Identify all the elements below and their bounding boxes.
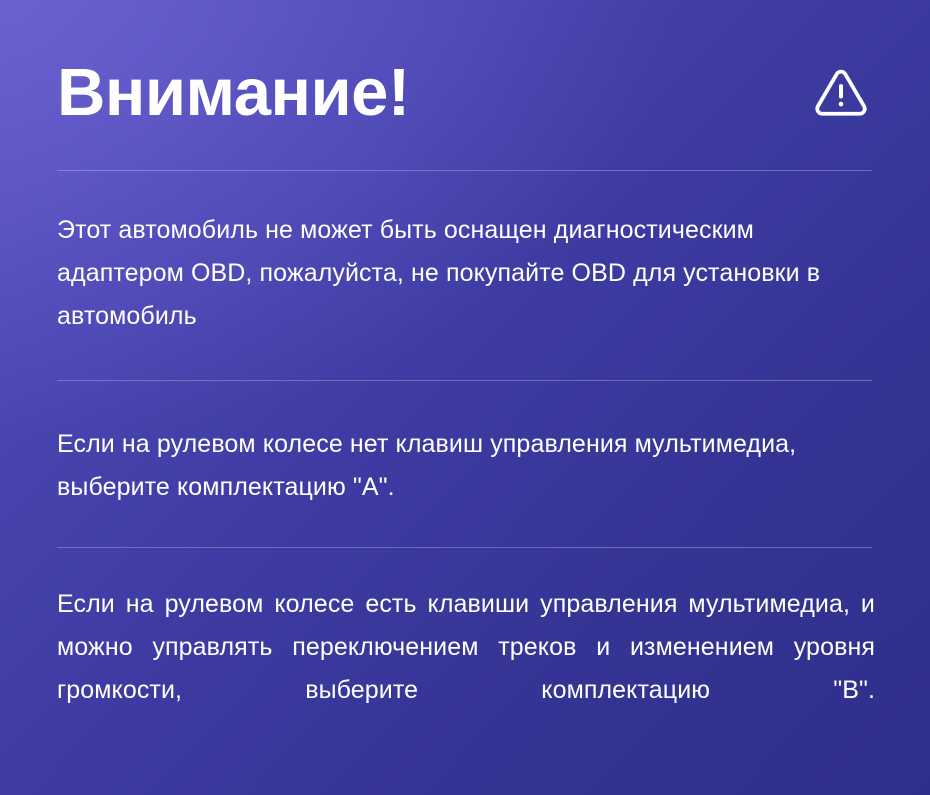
divider-2 (57, 380, 872, 381)
page-title: Внимание! (57, 59, 410, 126)
warning-paragraph-variant-b: Если на рулевом колесе есть клавиши упра… (57, 583, 875, 755)
warning-paragraph-variant-a: Если на рулевом колесе нет клавиш управл… (57, 423, 875, 509)
warning-triangle-icon (812, 63, 872, 121)
warning-paragraph-obd: Этот автомобиль не может быть оснащен ди… (57, 209, 875, 338)
header: Внимание! (57, 44, 872, 140)
divider-1 (57, 170, 872, 171)
warning-panel: Внимание! Этот автомобиль не может быть … (0, 0, 930, 795)
divider-3 (57, 547, 872, 548)
